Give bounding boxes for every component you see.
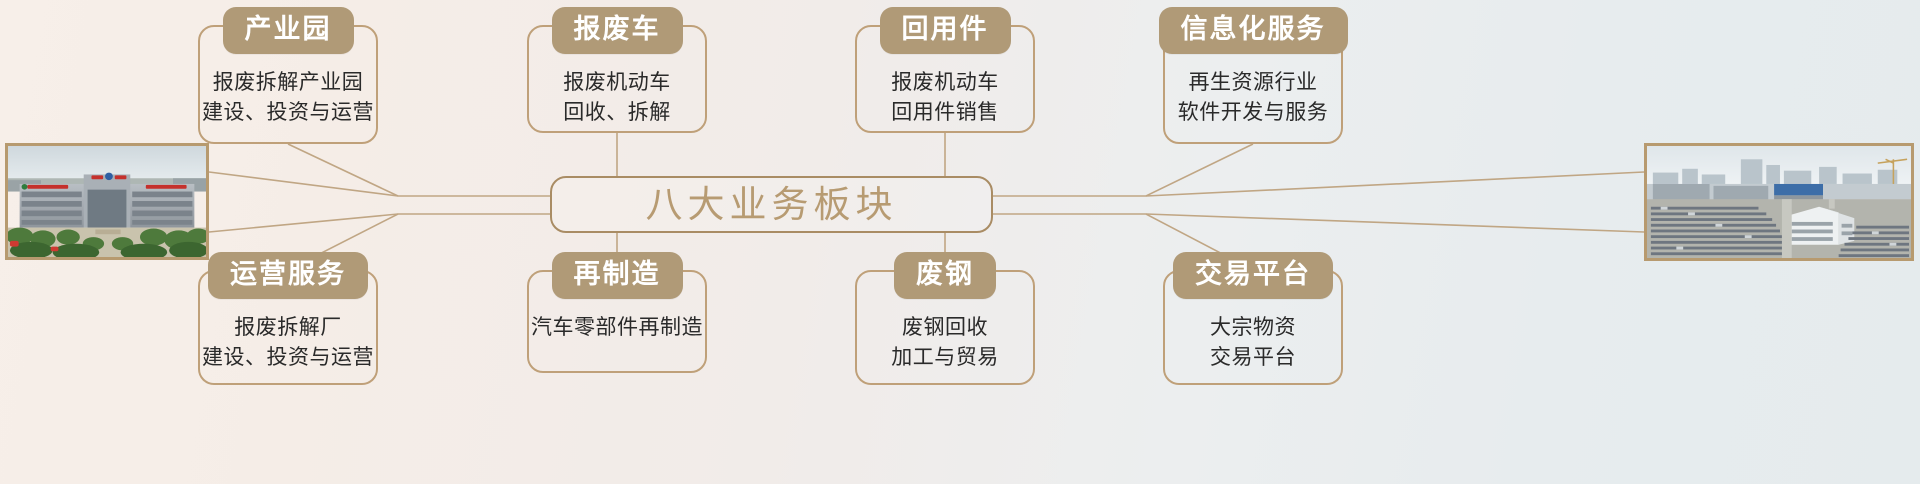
card-scrap-vehicle[interactable]: 报废车 报废机动车 回收、拆解: [527, 25, 707, 133]
card-badge-scrap-steel: 废钢: [894, 252, 996, 299]
card-badge-trading-platform: 交易平台: [1173, 252, 1333, 299]
card-desc-reusable-parts: 报废机动车 回用件销售: [891, 68, 999, 128]
card-badge-reusable-parts: 回用件: [880, 7, 1011, 54]
industrial-park-building-photo: [5, 143, 209, 260]
card-desc-information-service: 再生资源行业 软件开发与服务: [1178, 68, 1329, 128]
center-hub: 八大业务板块: [550, 176, 993, 233]
card-desc-operation-service: 报废拆解厂 建设、投资与运营: [202, 313, 374, 373]
card-remanufacturing[interactable]: 再制造 汽车零部件再制造: [527, 270, 707, 373]
card-desc-trading-platform: 大宗物资 交易平台: [1210, 313, 1296, 373]
card-badge-information-service: 信息化服务: [1159, 7, 1348, 54]
card-desc-remanufacturing: 汽车零部件再制造: [531, 313, 703, 343]
card-desc-scrap-vehicle: 报废机动车 回收、拆解: [563, 68, 671, 128]
card-desc-scrap-steel: 废钢回收 加工与贸易: [891, 313, 999, 373]
card-reusable-parts[interactable]: 回用件 报废机动车 回用件销售: [855, 25, 1035, 133]
mindmap-canvas: 八大业务板块 产业园 报废拆解产业园 建设、投资与运营 报废车 报废机动车 回收…: [0, 0, 1920, 484]
card-industrial-park[interactable]: 产业园 报废拆解产业园 建设、投资与运营: [198, 25, 378, 144]
hub-title: 八大业务板块: [646, 186, 898, 223]
card-trading-platform[interactable]: 交易平台 大宗物资 交易平台: [1163, 270, 1343, 385]
card-desc-industrial-park: 报废拆解产业园 建设、投资与运营: [202, 68, 374, 128]
card-scrap-steel[interactable]: 废钢 废钢回收 加工与贸易: [855, 270, 1035, 385]
card-badge-scrap-vehicle: 报废车: [552, 7, 683, 54]
card-badge-remanufacturing: 再制造: [552, 252, 683, 299]
card-badge-operation-service: 运营服务: [208, 252, 368, 299]
building-photo-artwork: [8, 146, 206, 257]
yard-photo-artwork: [1647, 146, 1911, 258]
card-operation-service[interactable]: 运营服务 报废拆解厂 建设、投资与运营: [198, 270, 378, 385]
card-badge-industrial-park: 产业园: [223, 7, 354, 54]
dismantling-yard-aerial-photo: [1644, 143, 1914, 261]
card-information-service[interactable]: 信息化服务 再生资源行业 软件开发与服务: [1163, 25, 1343, 144]
